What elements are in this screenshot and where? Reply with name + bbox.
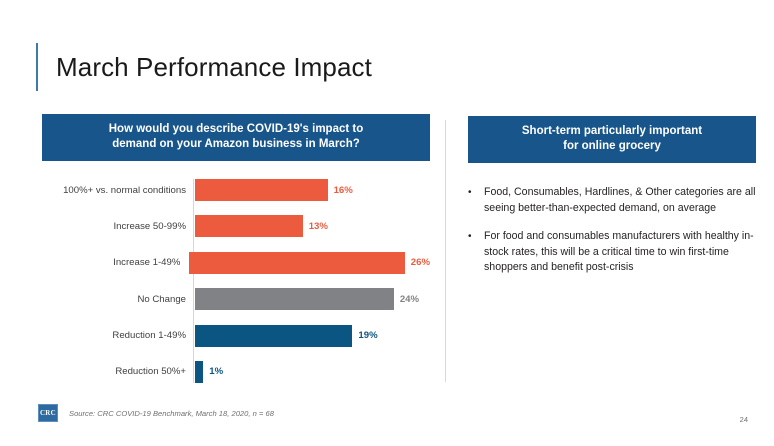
- chart-panel-header-line2: demand on your Amazon business in March?: [52, 137, 420, 152]
- chart-bar-value: 1%: [209, 366, 223, 377]
- slide-canvas: March Performance Impact How would you d…: [0, 0, 774, 446]
- insights-panel-header: Short-term particularly important for on…: [468, 116, 756, 163]
- chart-bar-wrap: 13%: [195, 215, 430, 237]
- insights-bullet-list: •Food, Consumables, Hardlines, & Other c…: [468, 185, 756, 276]
- chart-bar: [195, 179, 328, 201]
- page-title-text: March Performance Impact: [56, 52, 372, 83]
- chart-category-label: Reduction 50%+: [42, 366, 194, 377]
- chart-bar-value: 16%: [334, 185, 353, 196]
- chart-bar-row: 100%+ vs. normal conditions16%: [42, 179, 430, 201]
- bullet-dot-icon: •: [468, 185, 484, 216]
- chart-category-label: No Change: [42, 294, 194, 305]
- vertical-divider: [445, 120, 446, 382]
- chart-category-label: Increase 50-99%: [42, 221, 194, 232]
- bullet-dot-icon: •: [468, 229, 484, 276]
- chart-bar-value: 24%: [400, 294, 419, 305]
- crc-logo-text: CRC: [40, 410, 56, 417]
- bar-chart: 100%+ vs. normal conditions16%Increase 5…: [42, 179, 430, 383]
- insights-panel-header-line1: Short-term particularly important: [478, 124, 746, 139]
- chart-category-label: 100%+ vs. normal conditions: [42, 185, 194, 196]
- chart-category-label: Reduction 1-49%: [42, 330, 194, 341]
- chart-rows: 100%+ vs. normal conditions16%Increase 5…: [42, 179, 430, 383]
- chart-bar-row: Reduction 50%+1%: [42, 361, 430, 383]
- chart-bar-row: Reduction 1-49%19%: [42, 325, 430, 347]
- insights-bullet-item: •Food, Consumables, Hardlines, & Other c…: [468, 185, 756, 216]
- chart-bar-wrap: 16%: [195, 179, 430, 201]
- chart-bar-row: Increase 50-99%13%: [42, 215, 430, 237]
- chart-panel-header-line1: How would you describe COVID-19's impact…: [52, 122, 420, 137]
- insights-panel: Short-term particularly important for on…: [468, 116, 756, 289]
- chart-bar-wrap: 19%: [195, 325, 430, 347]
- insights-bullet-text: Food, Consumables, Hardlines, & Other ca…: [484, 185, 756, 216]
- chart-bar-value: 26%: [411, 257, 430, 268]
- insights-bullet-text: For food and consumables manufacturers w…: [484, 229, 756, 276]
- chart-bar: [195, 288, 394, 310]
- chart-bar-wrap: 26%: [189, 252, 430, 274]
- insights-bullet-item: •For food and consumables manufacturers …: [468, 229, 756, 276]
- chart-bar: [195, 325, 352, 347]
- chart-bar-row: No Change24%: [42, 288, 430, 310]
- chart-bar-value: 19%: [358, 330, 377, 341]
- chart-bar: [195, 215, 303, 237]
- chart-panel-header: How would you describe COVID-19's impact…: [42, 114, 430, 161]
- chart-bar-wrap: 24%: [195, 288, 430, 310]
- crc-logo-icon: CRC: [38, 404, 58, 422]
- page-title: March Performance Impact: [36, 42, 372, 92]
- chart-bar-value: 13%: [309, 221, 328, 232]
- chart-bar: [195, 361, 203, 383]
- chart-bar-row: Increase 1-49%26%: [42, 252, 430, 274]
- page-number: 24: [740, 415, 748, 424]
- chart-bar-wrap: 1%: [195, 361, 430, 383]
- title-accent-bar: [36, 43, 38, 91]
- footer: CRC Source: CRC COVID-19 Benchmark, Marc…: [38, 404, 274, 422]
- chart-category-label: Increase 1-49%: [42, 257, 188, 268]
- chart-panel: How would you describe COVID-19's impact…: [42, 114, 430, 383]
- chart-bar: [189, 252, 404, 274]
- source-note: Source: CRC COVID-19 Benchmark, March 18…: [69, 409, 274, 418]
- insights-panel-header-line2: for online grocery: [478, 139, 746, 154]
